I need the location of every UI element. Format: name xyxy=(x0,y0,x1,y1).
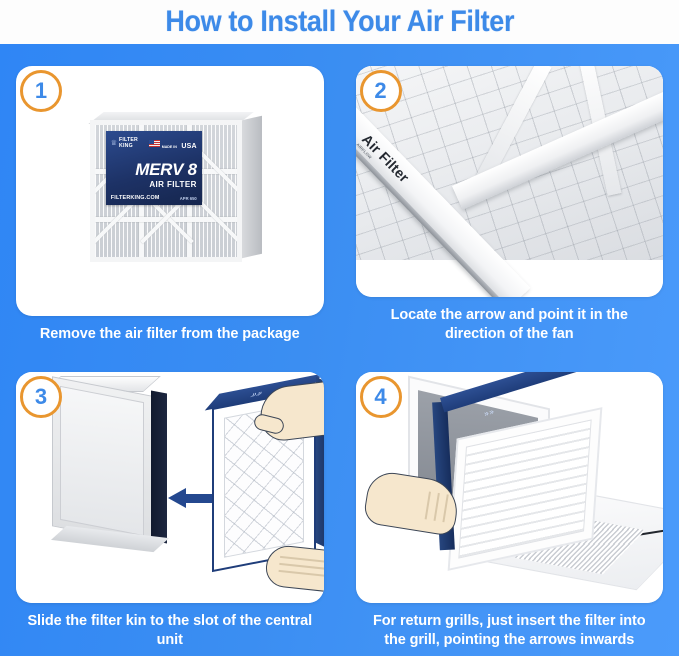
grill-louvers xyxy=(458,419,591,558)
apr-rating: APR 650 xyxy=(180,196,197,201)
filter-front-face: ♕ FILTER KING xyxy=(90,120,242,262)
step-caption-2: Locate the arrow and point it in the dir… xyxy=(356,297,664,344)
step-card-3: »» 3 Slide the filter kin to the slot of… xyxy=(0,350,340,656)
step-card-1: ♕ FILTER KING xyxy=(0,44,340,350)
made-in-usa-text: MADE IN USA xyxy=(162,135,197,153)
product-label: ♕ FILTER KING xyxy=(106,131,202,205)
filter-corner-photo: Air Filter AIRFLOW xyxy=(356,66,664,297)
direction-arrow-shaft xyxy=(184,494,212,503)
step-1-image-card: ♕ FILTER KING xyxy=(16,66,324,316)
merv-rating: MERV 8 xyxy=(111,161,197,178)
filter-package-photo: ♕ FILTER KING xyxy=(16,66,324,316)
crown-icon: ♕ xyxy=(111,140,117,147)
return-grill-illustration: »» xyxy=(356,372,664,603)
step-3-image-card: »» 3 xyxy=(16,372,324,603)
steps-grid: ♕ FILTER KING xyxy=(0,44,679,656)
step-caption-3: Slide the filter kin to the slot of the … xyxy=(16,603,324,650)
label-subtitle: AIR FILTER xyxy=(111,180,197,189)
slide-filter-illustration: »» xyxy=(16,372,324,603)
step-number-badge-2: 2 xyxy=(360,70,402,112)
step-card-4: »» 4 For return grills, just insert the … xyxy=(340,350,679,656)
step-2-image-card: Air Filter AIRFLOW 2 xyxy=(356,66,664,297)
label-bottom-row: FILTERKING.COM APR 650 xyxy=(111,195,197,201)
direction-arrow-icon xyxy=(168,488,186,508)
filter-king-logo: ♕ FILTER KING xyxy=(111,138,138,149)
central-unit-face xyxy=(52,376,152,545)
step-card-2: Air Filter AIRFLOW 2 Locate the arrow an… xyxy=(340,44,679,350)
step-number-badge-4: 4 xyxy=(360,376,402,418)
header-bar: How to Install Your Air Filter xyxy=(0,0,679,44)
step-4-image-card: »» 4 xyxy=(356,372,664,603)
filter-slot xyxy=(151,390,167,543)
us-flag-icon xyxy=(149,140,160,147)
step-caption-1: Remove the air filter from the package xyxy=(16,316,324,344)
brand-website: FILTERKING.COM xyxy=(111,195,160,201)
central-unit-panel xyxy=(60,386,144,536)
air-filter-product: ♕ FILTER KING xyxy=(90,112,262,262)
page-title: How to Install Your Air Filter xyxy=(165,5,514,39)
step-caption-4: For return grills, just insert the filte… xyxy=(356,603,664,650)
hand-lower xyxy=(264,544,323,595)
made-in-usa-badge: MADE IN USA xyxy=(149,135,197,153)
infographic-poster: How to Install Your Air Filter xyxy=(0,0,679,656)
label-top-row: ♕ FILTER KING xyxy=(111,135,197,153)
step-number-badge-3: 3 xyxy=(20,376,62,418)
brand-name: FILTER KING xyxy=(119,138,138,149)
filter-depth-side xyxy=(242,116,262,259)
step-number-badge-1: 1 xyxy=(20,70,62,112)
